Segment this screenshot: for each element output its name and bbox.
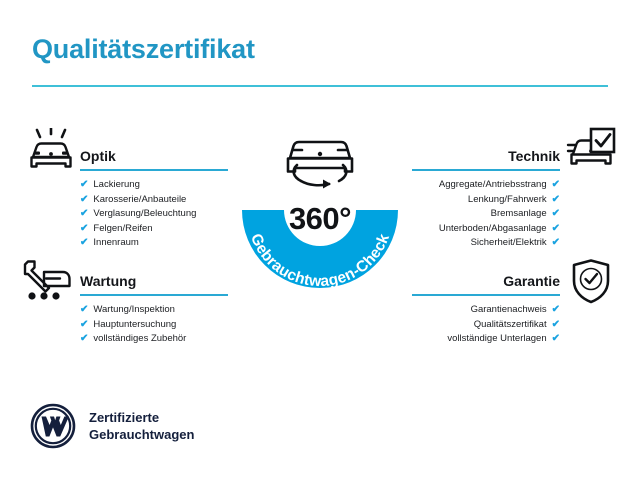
list-item-label: Innenraum [93, 236, 138, 251]
vw-logo-icon [30, 403, 76, 449]
certificate-page: Qualitätszertifikat [0, 0, 640, 480]
section-optik: Optik ✔ Lackierung ✔ Karosserie/Anbautei… [80, 143, 228, 251]
check-icon: ✔ [80, 236, 88, 251]
section-header: Wartung [80, 268, 228, 296]
check-icon: ✔ [552, 303, 560, 318]
check-icon: ✔ [80, 303, 88, 318]
list-item: ✔ Verglasung/Beleuchtung [80, 207, 228, 222]
list-item-label: Karosserie/Anbauteile [93, 193, 186, 208]
section-title: Garantie [503, 273, 560, 289]
list-item: ✔ Hauptuntersuchung [80, 318, 228, 333]
section-title: Technik [508, 148, 560, 164]
section-title: Wartung [80, 273, 136, 289]
list-item: ✔ Innenraum [80, 236, 228, 251]
brand-line-2: Gebrauchtwagen [89, 426, 194, 443]
list-item: ✔ Unterboden/Abgasanlage [412, 222, 560, 237]
page-title: Qualitätszertifikat [32, 34, 255, 65]
check-icon: ✔ [80, 318, 88, 333]
section-header: Technik [412, 143, 560, 171]
list-item: ✔ vollständige Unterlagen [412, 332, 560, 347]
list-item: ✔ Lackierung [80, 178, 228, 193]
section-header: Garantie [412, 268, 560, 296]
wrench-car-icon [22, 258, 74, 309]
check-icon: ✔ [80, 222, 88, 237]
check-icon: ✔ [552, 222, 560, 237]
shield-check-icon [570, 258, 612, 309]
check-icon: ✔ [552, 178, 560, 193]
list-item-label: vollständiges Zubehör [93, 332, 186, 347]
list-item-label: Sicherheit/Elektrik [471, 236, 547, 251]
brand-text: Zertifizierte Gebrauchtwagen [89, 409, 194, 443]
list-item-label: Wartung/Inspektion [93, 303, 175, 318]
check-icon: ✔ [552, 193, 560, 208]
list-item-label: Aggregate/Antriebsstrang [439, 178, 547, 193]
list-item-label: Felgen/Reifen [93, 222, 152, 237]
check-icon: ✔ [80, 193, 88, 208]
list-item-label: Lackierung [93, 178, 139, 193]
checklist: ✔ Wartung/Inspektion ✔ Hauptuntersuchung… [80, 303, 228, 347]
checklist: ✔ Garantienachweis ✔ Qualitätszertifikat… [412, 303, 560, 347]
list-item-label: Verglasung/Beleuchtung [93, 207, 196, 222]
list-item: ✔ Garantienachweis [412, 303, 560, 318]
section-underline [80, 294, 228, 296]
section-title: Optik [80, 148, 116, 164]
car-checkbox-icon [566, 127, 616, 180]
brand-line-1: Zertifizierte [89, 409, 194, 426]
section-header: Optik [80, 143, 228, 171]
list-item: ✔ vollständiges Zubehör [80, 332, 228, 347]
footer-brand: Zertifizierte Gebrauchtwagen [30, 403, 194, 449]
list-item-label: vollständige Unterlagen [447, 332, 546, 347]
list-item: ✔ Qualitätszertifikat [412, 318, 560, 333]
section-underline [80, 169, 228, 171]
list-item-label: Lenkung/Fahrwerk [468, 193, 547, 208]
list-item: ✔ Wartung/Inspektion [80, 303, 228, 318]
checklist: ✔ Lackierung ✔ Karosserie/Anbauteile ✔ V… [80, 178, 228, 251]
list-item: ✔ Karosserie/Anbauteile [80, 193, 228, 208]
section-underline [412, 169, 560, 171]
section-wartung: Wartung ✔ Wartung/Inspektion ✔ Hauptunte… [80, 268, 228, 347]
section-garantie: Garantie ✔ Garantienachweis ✔ Qualitätsz… [412, 268, 560, 347]
list-item: ✔ Felgen/Reifen [80, 222, 228, 237]
list-item: ✔ Aggregate/Antriebsstrang [412, 178, 560, 193]
check-icon: ✔ [80, 178, 88, 193]
section-technik: Technik ✔ Aggregate/Antriebsstrang ✔ Len… [412, 143, 560, 251]
checklist: ✔ Aggregate/Antriebsstrang ✔ Lenkung/Fah… [412, 178, 560, 251]
list-item: ✔ Sicherheit/Elektrik [412, 236, 560, 251]
list-item-label: Bremsanlage [491, 207, 547, 222]
check-icon: ✔ [80, 207, 88, 222]
check-icon: ✔ [552, 236, 560, 251]
check-icon: ✔ [80, 332, 88, 347]
list-item: ✔ Lenkung/Fahrwerk [412, 193, 560, 208]
car-shine-icon [26, 128, 76, 181]
check-icon: ✔ [552, 207, 560, 222]
list-item-label: Garantienachweis [471, 303, 547, 318]
section-underline [412, 294, 560, 296]
list-item: ✔ Bremsanlage [412, 207, 560, 222]
badge-360-gebrauchtwagen-check: Gebrauchtwagen-Check 360° [225, 115, 415, 305]
list-item-label: Unterboden/Abgasanlage [439, 222, 547, 237]
title-divider [32, 85, 608, 87]
check-icon: ✔ [552, 332, 560, 347]
list-item-label: Qualitätszertifikat [474, 318, 547, 333]
list-item-label: Hauptuntersuchung [93, 318, 176, 333]
check-icon: ✔ [552, 318, 560, 333]
